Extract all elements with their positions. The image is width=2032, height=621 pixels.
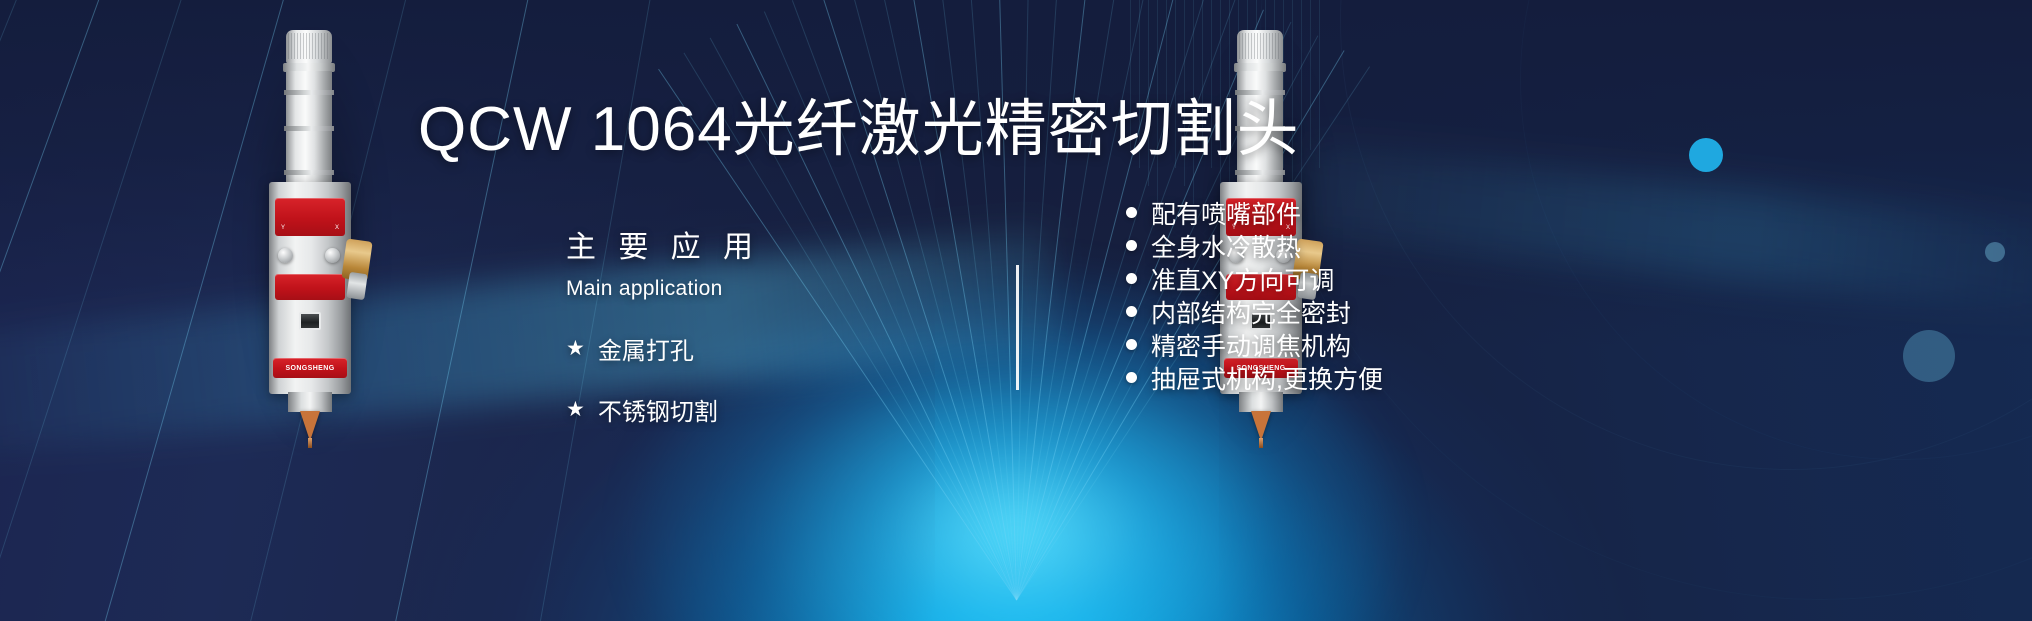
feature-item: 配有喷嘴部件 <box>1126 196 1383 229</box>
bullet-icon <box>1126 207 1137 218</box>
product-tube-ring <box>284 90 334 95</box>
product-neck <box>288 392 332 412</box>
vertical-divider <box>1016 265 1019 390</box>
main-application-block: 主 要 应 用 Main application ★金属打孔★不锈钢切割 <box>566 222 806 453</box>
product-brand-label: SONGSHENG <box>285 365 334 372</box>
product-brand-plate: SONGSHENG <box>273 358 347 378</box>
application-item: ★金属打孔 <box>566 331 806 366</box>
product-red-plate-top: Y X <box>275 198 345 236</box>
star-icon: ★ <box>566 338 585 359</box>
feature-item: 内部结构完全密封 <box>1126 295 1383 328</box>
product-adjust-knob <box>278 248 293 263</box>
feature-item-label: 精密手动调焦机构 <box>1151 327 1351 363</box>
feature-item: 准直XY方向可调 <box>1126 262 1383 295</box>
application-item-list: ★金属打孔★不锈钢切割 <box>566 331 806 427</box>
product-banner: Y X SONGSHENG Y X <box>0 0 2032 621</box>
application-item: ★不锈钢切割 <box>566 392 806 427</box>
feature-item-label: 配有喷嘴部件 <box>1151 195 1301 231</box>
accent-dot-small <box>1985 242 2005 262</box>
product-red-plate-mid <box>275 274 345 300</box>
feature-item: 抽屉式机构,更换方便 <box>1126 361 1383 394</box>
feature-item-label: 抽屉式机构,更换方便 <box>1151 360 1383 396</box>
product-top-cap <box>286 30 332 64</box>
product-tube-ring <box>284 170 334 175</box>
product-viewport <box>299 312 321 330</box>
product-nozzle-cone <box>1251 411 1271 441</box>
application-heading-cn: 主 要 应 用 <box>566 222 806 266</box>
product-nozzle-tip <box>1259 438 1263 448</box>
feature-item-label: 准直XY方向可调 <box>1151 261 1334 297</box>
product-side-fitting <box>346 272 367 300</box>
application-heading-en: Main application <box>566 277 806 301</box>
product-tube-ring <box>1235 170 1285 175</box>
axis-label-x: X <box>335 225 339 231</box>
feature-item: 精密手动调焦机构 <box>1126 328 1383 361</box>
accent-dot-large <box>1689 138 1723 172</box>
feature-item-label: 内部结构完全密封 <box>1151 294 1351 330</box>
application-item-label: 不锈钢切割 <box>598 392 718 427</box>
product-adjust-knob <box>325 248 340 263</box>
bullet-icon <box>1126 306 1137 317</box>
product-nozzle-cone <box>300 411 320 441</box>
product-image-left: Y X SONGSHENG <box>252 30 372 450</box>
bullet-icon <box>1126 339 1137 350</box>
bullet-icon <box>1126 240 1137 251</box>
product-top-cap <box>1237 30 1283 64</box>
banner-title: QCW 1064光纤激光精密切割头 <box>418 97 1300 163</box>
bullet-icon <box>1126 273 1137 284</box>
feature-item: 全身水冷散热 <box>1126 229 1383 262</box>
product-nozzle-tip <box>308 438 312 448</box>
application-item-label: 金属打孔 <box>598 331 694 366</box>
feature-item-label: 全身水冷散热 <box>1151 228 1301 264</box>
feature-list: 配有喷嘴部件全身水冷散热准直XY方向可调内部结构完全密封精密手动调焦机构抽屉式机… <box>1126 196 1383 394</box>
product-body: Y X SONGSHENG <box>269 182 351 394</box>
axis-label-y: Y <box>281 225 285 231</box>
star-icon: ★ <box>566 399 585 420</box>
accent-dot-medium <box>1903 330 1955 382</box>
product-tube-ring <box>284 126 334 131</box>
bullet-icon <box>1126 372 1137 383</box>
